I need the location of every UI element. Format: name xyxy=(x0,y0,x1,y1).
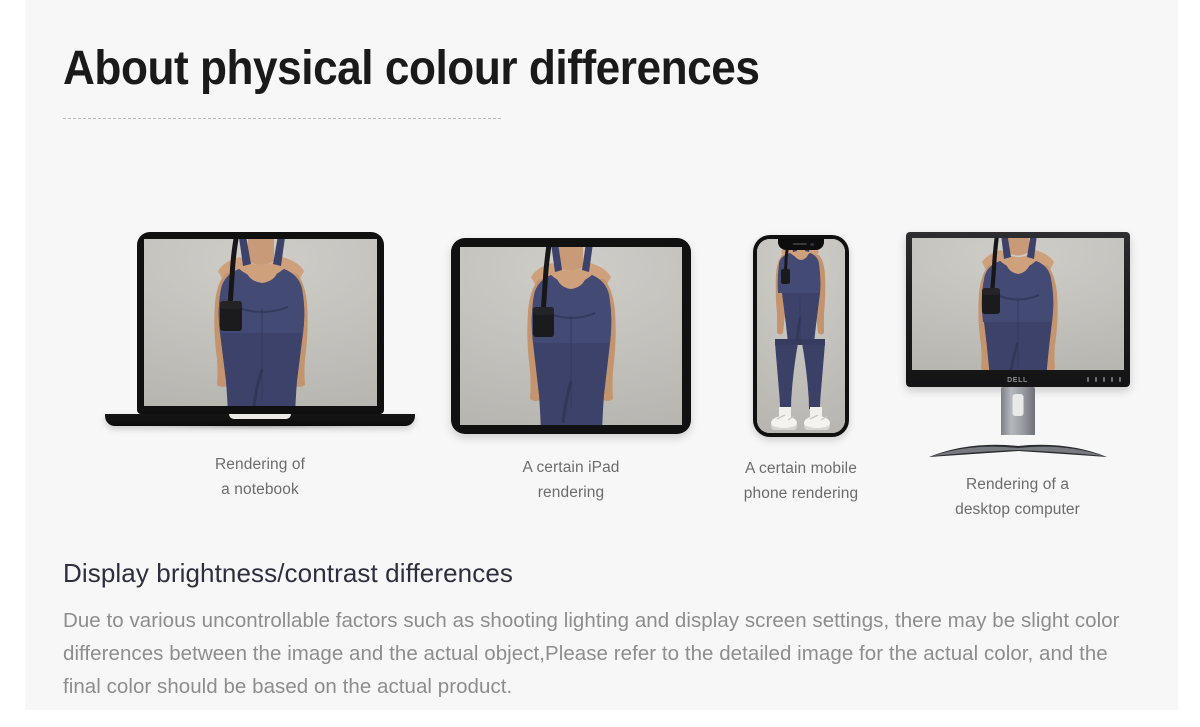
monitor-brand-logo: DELL xyxy=(1007,377,1028,384)
tablet-icon xyxy=(425,238,717,434)
laptop-icon xyxy=(95,232,425,431)
laptop-shadow xyxy=(95,426,425,431)
device-item-laptop: Rendering of a notebook xyxy=(95,232,425,503)
device-label-tablet: A certain iPad rendering xyxy=(425,456,717,506)
title-divider xyxy=(63,118,501,119)
phone-notch xyxy=(778,239,824,250)
monitor-stand-neck xyxy=(1001,387,1035,435)
laptop-base xyxy=(105,414,415,426)
desktop-monitor-icon: DELL xyxy=(906,232,1130,459)
notice-heading: Display brightness/contrast differences xyxy=(63,558,513,589)
notice-paragraph: Due to various uncontrollable factors su… xyxy=(63,604,1125,704)
device-label-phone: A certain mobile phone rendering xyxy=(717,457,885,507)
phone-speaker xyxy=(793,243,807,245)
mobile-phone-icon xyxy=(717,235,885,437)
product-photo-tablet xyxy=(460,247,682,425)
phone-camera-icon xyxy=(810,243,814,247)
product-photo-monitor xyxy=(912,238,1124,370)
page-title: About physical colour differences xyxy=(63,42,759,96)
monitor-buttons[interactable] xyxy=(1087,377,1121,382)
device-item-tablet: A certain iPad rendering xyxy=(425,232,717,506)
device-label-laptop: Rendering of a notebook xyxy=(95,453,425,503)
device-item-monitor: DELL Rendering of a desktop computer xyxy=(885,232,1150,523)
product-photo-laptop xyxy=(144,239,377,406)
content-panel: About physical colour differences xyxy=(25,0,1178,710)
monitor-stand-base xyxy=(925,435,1111,459)
device-gallery: Rendering of a notebook xyxy=(25,232,1178,517)
product-photo-phone xyxy=(757,239,845,433)
device-label-monitor: Rendering of a desktop computer xyxy=(885,473,1150,523)
device-item-phone: A certain mobile phone rendering xyxy=(717,232,885,507)
